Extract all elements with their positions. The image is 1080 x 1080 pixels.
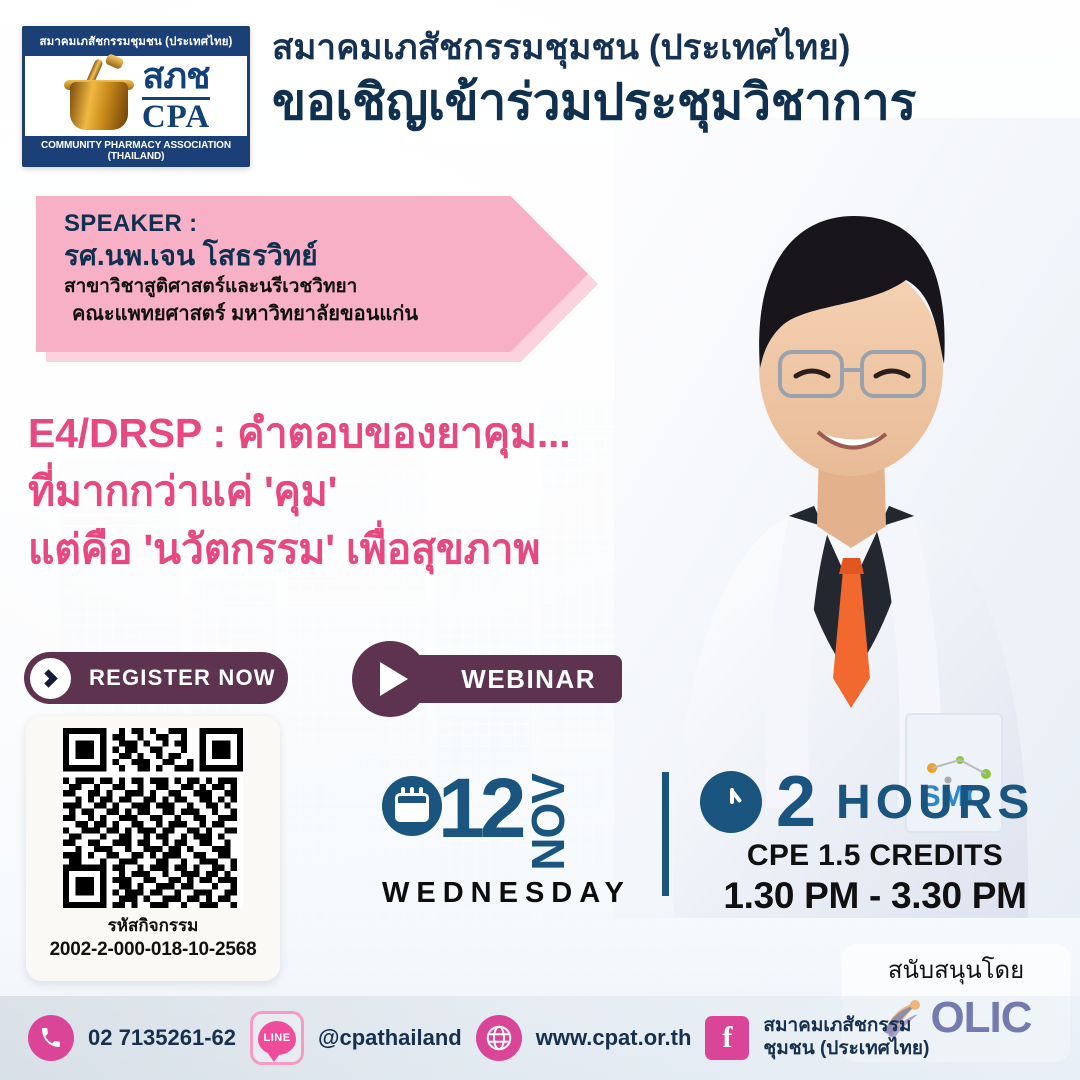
event-time-range: 1.30 PM - 3.30 PM: [700, 875, 1050, 917]
section-divider: [662, 772, 669, 896]
phone-icon: [28, 1015, 74, 1061]
speaker-name: รศ.นพ.เจน โสธรวิทย์: [64, 239, 588, 273]
header-line-1: สมาคมเภสัชกรรมชุมชน (ประเทศไทย): [272, 26, 1002, 70]
logo-word-thai: สภช: [142, 58, 210, 94]
line-badge-label: LINE: [264, 1032, 291, 1044]
header-line-2: ขอเชิญเข้าร่วมประชุมวิชาการ: [272, 72, 1002, 132]
header-text: สมาคมเภสัชกรรมชุมชน (ประเทศไทย) ขอเชิญเข…: [272, 26, 1002, 132]
qr-code-card[interactable]: รหัสกิจกรรม 2002-2-000-018-10-2568: [26, 716, 280, 981]
logo-top-text: สมาคมเภสัชกรรมชุมชน (ประเทศไทย): [25, 29, 247, 56]
logo-word-en: CPA: [142, 101, 210, 134]
facebook-icon[interactable]: f: [705, 1016, 749, 1060]
website-url[interactable]: www.cpat.or.th: [536, 1025, 692, 1051]
speaker-faculty: คณะแพทยศาสตร์ มหาวิทยาลัยขอนแก่น: [64, 301, 588, 327]
register-now-button[interactable]: REGISTER NOW: [24, 652, 288, 704]
phone-number[interactable]: 02 7135261-62: [88, 1025, 236, 1051]
chevron-right-icon: [30, 658, 71, 699]
event-month: NOV: [527, 774, 569, 871]
qr-code-image[interactable]: [58, 728, 248, 908]
qr-activity-code: 2002-2-000-018-10-2568: [50, 939, 257, 961]
event-weekday: WEDNESDAY: [382, 877, 652, 910]
webinar-badge[interactable]: WEBINAR: [380, 655, 622, 703]
logo-bottom-text: COMMUNITY PHARMACY ASSOCIATION (THAILAND…: [25, 136, 247, 166]
play-icon: [352, 641, 428, 717]
qr-caption: รหัสกิจกรรม: [108, 912, 199, 939]
speaker-department: สาขาวิชาสูติศาสตร์และนรีเวชวิทยา: [64, 275, 588, 300]
duration-amount: 2: [776, 770, 814, 835]
cpa-logo: สมาคมเภสัชกรรมชุมชน (ประเทศไทย) สภช CPA …: [22, 26, 250, 167]
title-line-1: E4/DRSP : คำตอบของยาคุม...: [28, 404, 688, 462]
event-duration-block: 2 HOURS CPE 1.5 CREDITS 1.30 PM - 3.30 P…: [700, 770, 1050, 917]
facebook-page-name[interactable]: สมาคมเภสัชกรรม ชุมชน (ประเทศไทย): [763, 1015, 929, 1061]
event-title: E4/DRSP : คำตอบของยาคุม... ที่มากกว่าแค่…: [28, 404, 688, 579]
speaker-banner: SPEAKER : รศ.นพ.เจน โสธรวิทย์ สาขาวิชาสู…: [36, 196, 588, 352]
line-id[interactable]: @cpathailand: [318, 1025, 462, 1051]
webinar-label: WEBINAR: [461, 664, 596, 695]
calendar-icon: [382, 776, 442, 836]
clock-icon: [700, 771, 762, 833]
title-line-2: ที่มากกว่าแค่ 'คุม': [28, 462, 688, 520]
duration-unit: HOURS: [836, 775, 1034, 830]
cpe-credits: CPE 1.5 CREDITS: [700, 839, 1050, 873]
contact-footer: 02 7135261-62 LINE @cpathailand www.cpat…: [0, 996, 1080, 1080]
speaker-label: SPEAKER :: [64, 210, 588, 238]
title-line-3: แต่คือ 'นวัตกรรม' เพื่อสุขภาพ: [28, 520, 688, 578]
line-icon[interactable]: LINE: [250, 1011, 304, 1065]
register-now-label: REGISTER NOW: [89, 665, 276, 691]
event-date-block: 12 NOV WEDNESDAY: [382, 772, 652, 910]
sponsor-caption: สนับสนุนโดย: [888, 950, 1024, 989]
event-day: 12: [438, 772, 521, 844]
poster-canvas: SMC สมาคมเภสัชกรรมชุมชน (ประเทศไทย) สภช: [0, 0, 1080, 1080]
globe-icon: [476, 1015, 522, 1061]
facebook-name-line-1: สมาคมเภสัชกรรม: [763, 1015, 929, 1038]
facebook-name-line-2: ชุมชน (ประเทศไทย): [763, 1038, 929, 1061]
mortar-and-pestle-icon: [62, 60, 136, 132]
